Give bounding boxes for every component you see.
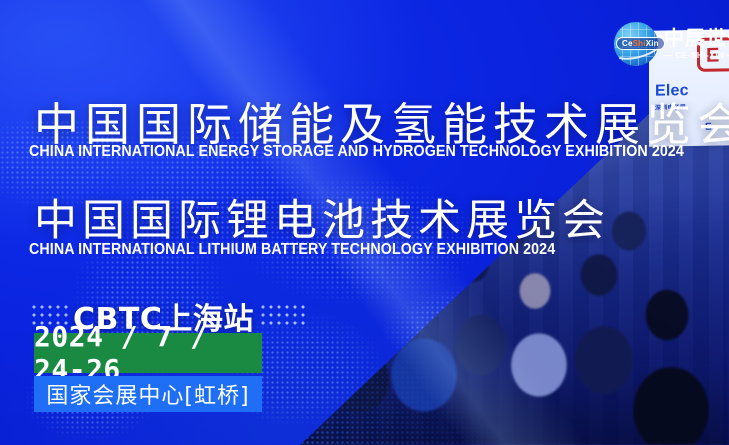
event-venue-bar: 国家会展中心[虹桥] <box>34 376 262 412</box>
company-logo[interactable]: CeShiXin 中展世信 — CE-SHI-XIN — <box>614 22 729 66</box>
exhibition-title-en-energy: CHINA INTERNATIONAL ENERGY STORAGE AND H… <box>29 143 684 161</box>
exhibition-banner: E Elec 深圳电子展 E CeShiXin 中展世信 — CE-SHI-XI… <box>0 0 729 445</box>
exhibition-title-cn-battery: 中国国际锂电池技术展览会 <box>34 186 610 248</box>
logo-text-block: 中展世信 — CE-SHI-XIN — <box>664 28 729 60</box>
event-date-bar: 2024 / 7 / 24-26 <box>34 333 262 373</box>
decorative-dot-grid-right <box>259 303 305 329</box>
logo-pill-suffix: Xin <box>646 39 659 48</box>
globe-icon: CeShiXin <box>614 22 658 66</box>
logo-pill-prefix: Ce <box>622 39 633 48</box>
exhibition-title-en-battery: CHINA INTERNATIONAL LITHIUM BATTERY TECH… <box>29 241 555 259</box>
logo-wordmark-pill: CeShiXin <box>616 37 665 50</box>
logo-company-name-en: — CE-SHI-XIN — <box>664 52 729 60</box>
logo-pill-highlight: Shi <box>633 39 646 48</box>
logo-company-name-cn: 中展世信 <box>664 28 729 48</box>
